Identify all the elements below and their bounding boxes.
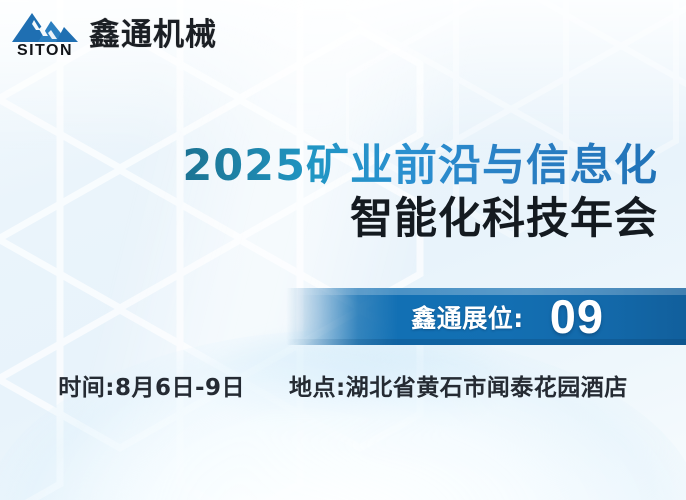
title-line-1: 2025矿业前沿与信息化 <box>18 142 658 190</box>
title-line-2: 智能化科技年会 <box>18 194 658 245</box>
event-poster: SITON 鑫通机械 2025矿业前沿与信息化 智能化科技年会 鑫通展位: 09… <box>0 0 686 500</box>
hexagon-pattern-left <box>0 0 500 500</box>
logo-wordmark: SITON <box>17 43 73 59</box>
event-details: 时间:8月6日-9日 地点:湖北省黄石市闻泰花园酒店 <box>0 368 686 402</box>
background-decoration <box>0 0 686 500</box>
event-time: 时间:8月6日-9日 <box>58 368 245 402</box>
booth-banner: 鑫通展位: 09 <box>286 288 686 345</box>
background-light-streak <box>49 0 490 500</box>
booth-number: 09 <box>550 293 604 340</box>
poster-title: 2025矿业前沿与信息化 智能化科技年会 <box>18 142 658 245</box>
event-location: 地点:湖北省黄石市闻泰花园酒店 <box>289 368 628 402</box>
siton-mountain-logo-icon: SITON <box>10 12 80 59</box>
mountain-icon <box>12 12 78 44</box>
background-bottom-glow <box>0 330 686 500</box>
logo-chinese-name: 鑫通机械 <box>89 20 217 51</box>
booth-label: 鑫通展位: <box>411 299 524 335</box>
brand-logo: SITON 鑫通机械 <box>8 10 223 61</box>
